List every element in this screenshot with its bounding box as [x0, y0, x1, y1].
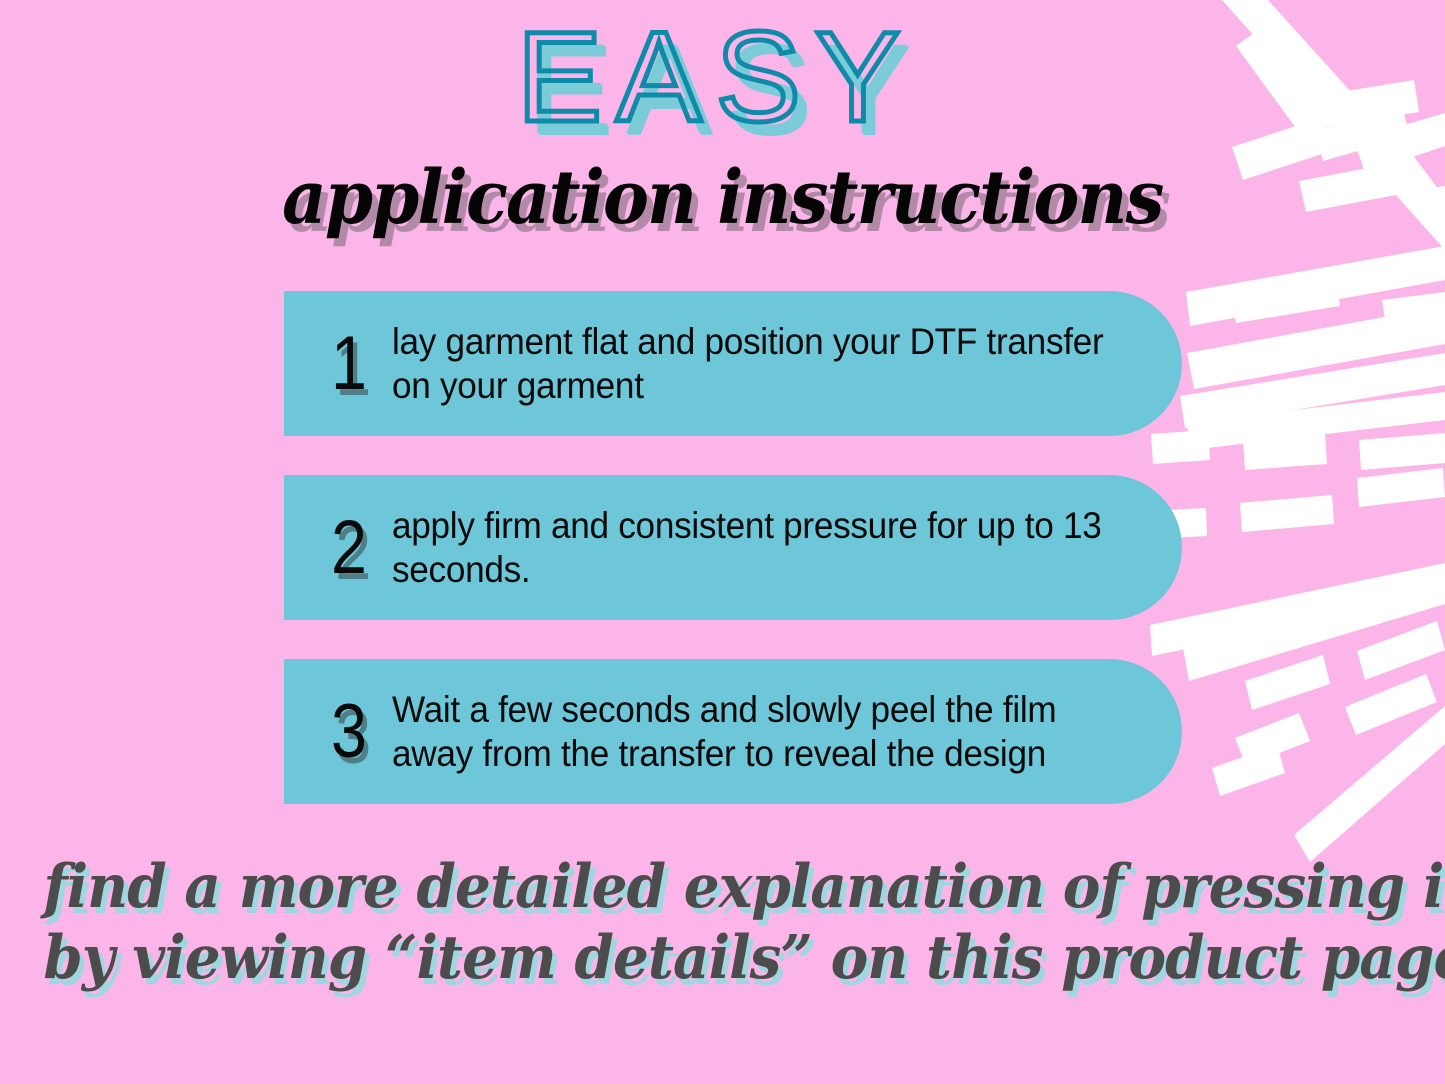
- step-number-3: 3: [318, 694, 381, 770]
- instruction-poster: EASY application instructions 1 lay garm…: [0, 0, 1445, 1084]
- subheadline-container: application instructions: [0, 160, 1445, 238]
- step-number-1: 1: [318, 326, 381, 402]
- instruction-step-3: 3 Wait a few seconds and slowly peel the…: [284, 659, 1182, 804]
- headline-container: EASY: [0, 14, 1445, 142]
- instruction-step-2: 2 apply firm and consistent pressure for…: [284, 475, 1182, 620]
- instruction-step-1: 1 lay garment flat and position your DTF…: [284, 291, 1182, 436]
- page-title: EASY: [517, 14, 929, 142]
- step-number-2: 2: [318, 510, 381, 586]
- footer-line-2: by viewing “item details” on this produc…: [43, 923, 1401, 994]
- footer-note: find a more detailed explanation of pres…: [0, 852, 1445, 994]
- footer-line-1: find a more detailed explanation of pres…: [43, 852, 1401, 923]
- step-text-3: Wait a few seconds and slowly peel the f…: [392, 688, 1143, 775]
- step-text-1: lay garment flat and position your DTF t…: [392, 320, 1143, 407]
- step-text-2: apply firm and consistent pressure for u…: [392, 504, 1143, 591]
- page-subtitle: application instructions: [282, 160, 1162, 238]
